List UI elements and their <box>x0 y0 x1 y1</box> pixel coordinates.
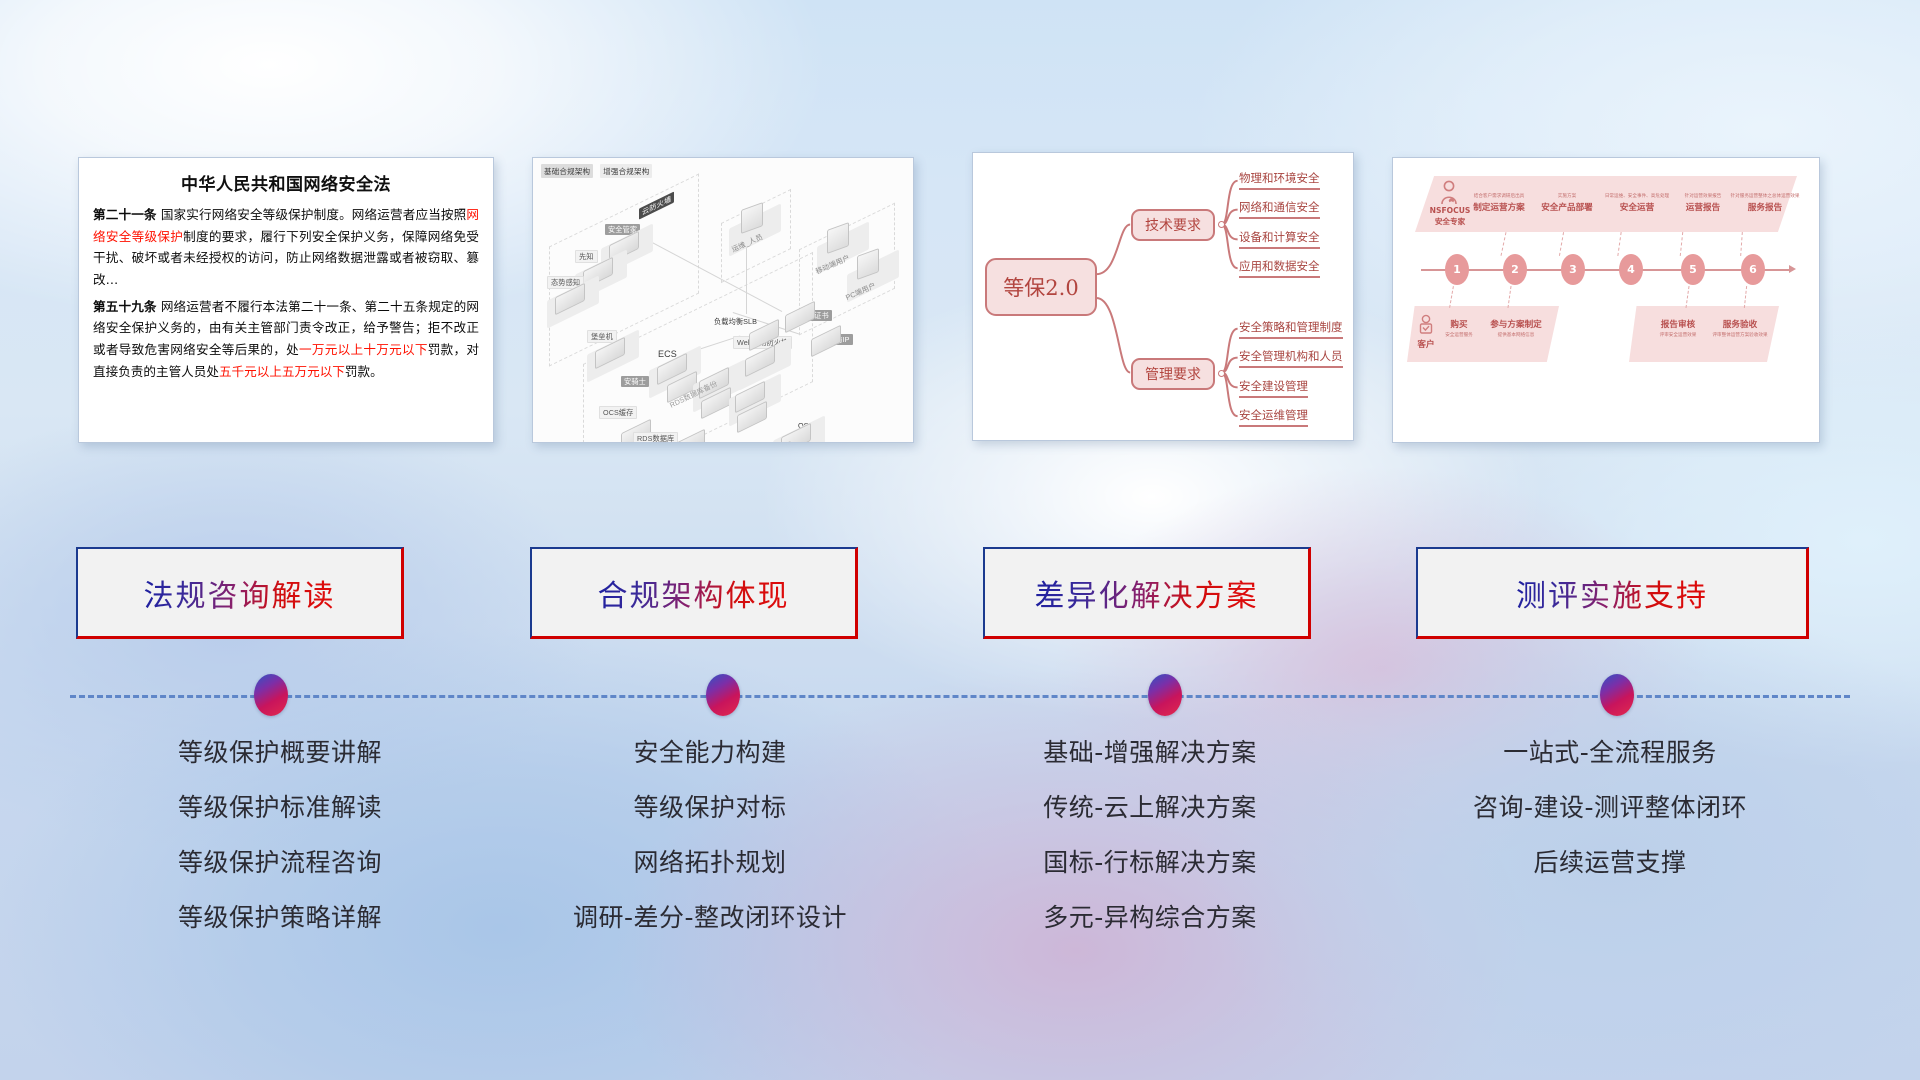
law-body: 中华人民共和国网络安全法 第二十一条 国家实行网络安全等级保护制度。网络运营者应… <box>79 158 493 395</box>
feature-list-assessment: 一站式-全流程服务 咨询-建设-测评整体闭环 后续运营支撑 <box>1380 740 1840 905</box>
list-item: 调研-差分-整改闭环设计 <box>500 905 920 930</box>
mindmap-leaf[interactable]: 应用和数据安全 <box>1239 258 1320 278</box>
mindmap-leaf[interactable]: 网络和通信安全 <box>1239 199 1320 219</box>
list-item: 后续运营支撑 <box>1380 850 1840 875</box>
list-item: 网络拓扑规划 <box>500 850 920 875</box>
service-timeline-card[interactable]: NSFOCUS 安全专家 结合客户需求调研后出具 制定运营方案 实施方案 安全产… <box>1392 157 1820 443</box>
feature-list-solution: 基础-增强解决方案 传统-云上解决方案 国标-行标解决方案 多元-异构综合方案 <box>930 740 1370 960</box>
list-item: 等级保护概要讲解 <box>60 740 500 765</box>
mindmap-leaf[interactable]: 安全运维管理 <box>1239 407 1308 427</box>
step-title: 参与方案制定 <box>1481 318 1551 330</box>
headline-box-differentiated-solution[interactable]: 差异化解决方案 <box>983 547 1311 639</box>
law-text-card[interactable]: 中华人民共和国网络安全法 第二十一条 国家实行网络安全等级保护制度。网络运营者应… <box>78 157 494 443</box>
step-title: 服务报告 <box>1723 201 1807 213</box>
architecture-tabs[interactable]: 基础合规架构 增强合规架构 <box>541 164 652 178</box>
list-item: 安全能力构建 <box>500 740 920 765</box>
step-subtitle: 评审整体运营方案验收效果 <box>1705 332 1775 338</box>
timeline-node[interactable]: 6 <box>1741 254 1765 285</box>
headline-box-assessment-support[interactable]: 测评实施支持 <box>1416 547 1809 639</box>
law-article-59: 第五十九条 网络运营者不履行本法第二十一条、第二十五条规定的网络安全保护义务的，… <box>93 296 479 383</box>
timeline-link <box>1449 286 1454 308</box>
list-item: 等级保护标准解读 <box>60 795 500 820</box>
timeline-node[interactable]: 2 <box>1503 254 1527 285</box>
article-59-highlight-1: 一万元以上十万元以下 <box>299 342 428 357</box>
timeline-dot-2[interactable] <box>706 674 740 716</box>
mindmap-leaf[interactable]: 物理和环境安全 <box>1239 170 1320 190</box>
timeline-bottom-step[interactable]: 购买 安全运营服务 <box>1437 318 1481 338</box>
list-item: 等级保护对标 <box>500 795 920 820</box>
timeline-dot-3[interactable] <box>1148 674 1182 716</box>
headline-box-regulation-consulting[interactable]: 法规咨询解读 <box>76 547 404 639</box>
timeline-dot-4[interactable] <box>1600 674 1634 716</box>
timeline-axis <box>1421 269 1791 271</box>
timeline-link <box>1740 232 1743 256</box>
timeline-link <box>1680 232 1684 256</box>
timeline-bottom-step[interactable]: 参与方案制定 提供基本网络信息 <box>1481 318 1551 338</box>
feature-list-architecture: 安全能力构建 等级保护对标 网络拓扑规划 调研-差分-整改闭环设计 <box>500 740 920 960</box>
mindmap-branch-management[interactable]: 管理要求 <box>1131 358 1215 390</box>
headline-label: 测评实施支持 <box>1516 571 1708 615</box>
article-59-highlight-2: 五千元以上五万元以下 <box>219 364 345 379</box>
customer-label: 客户 <box>1415 338 1437 350</box>
label-rds: RDS数据库 <box>633 432 678 443</box>
list-item: 多元-异构综合方案 <box>930 905 1370 930</box>
mindmap-card[interactable]: 等保2.0 技术要求 物理和环境安全 网络和通信安全 设备和计算安全 应用和数据… <box>972 152 1354 441</box>
step-subtitle: 针对服务运营整体之总体运营效果 <box>1723 193 1807 199</box>
customer-person-icon <box>1417 314 1435 336</box>
list-item: 基础-增强解决方案 <box>930 740 1370 765</box>
step-subtitle: 评审安全运营效果 <box>1645 332 1711 338</box>
mindmap-leaf[interactable]: 安全建设管理 <box>1239 378 1308 398</box>
feature-list-regulation: 等级保护概要讲解 等级保护标准解读 等级保护流程咨询 等级保护策略详解 <box>60 740 500 960</box>
law-title: 中华人民共和国网络安全法 <box>93 170 479 195</box>
list-item: 一站式-全流程服务 <box>1380 740 1840 765</box>
dashed-divider <box>70 695 1850 698</box>
step-title: 服务验收 <box>1705 318 1775 330</box>
timeline-link <box>1744 286 1747 308</box>
mindmap-leaf[interactable]: 安全策略和管理制度 <box>1239 319 1343 339</box>
timeline-top-step[interactable]: 针对服务运营整体之总体运营效果 服务报告 <box>1723 193 1807 213</box>
step-title: 报告审核 <box>1645 318 1711 330</box>
label-anqishi: 安骑士 <box>621 376 649 387</box>
mindmap-root[interactable]: 等保2.0 <box>985 258 1097 316</box>
timeline-node[interactable]: 1 <box>1445 254 1469 285</box>
cloud-architecture-card[interactable]: 基础合规架构 增强合规架构 云防火墙 安全管家 <box>532 157 914 443</box>
headline-label: 法规咨询解读 <box>144 571 336 615</box>
list-item: 国标-行标解决方案 <box>930 850 1370 875</box>
architecture-diagram: 基础合规架构 增强合规架构 云防火墙 安全管家 <box>533 158 913 442</box>
timeline-bottom-step[interactable]: 报告审核 评审安全运营效果 <box>1645 318 1711 338</box>
timeline-link <box>1685 286 1689 308</box>
article-21-text-a: 国家实行网络安全等级保护制度。网络运营者应当按照 <box>157 207 467 222</box>
step-subtitle: 提供基本网络信息 <box>1481 332 1551 338</box>
tab-enhanced-compliance[interactable]: 增强合规架构 <box>600 164 652 178</box>
tab-basic-compliance[interactable]: 基础合规架构 <box>541 164 593 178</box>
timeline-diagram: NSFOCUS 安全专家 结合客户需求调研后出具 制定运营方案 实施方案 安全产… <box>1393 158 1819 442</box>
timeline-dot-1[interactable] <box>254 674 288 716</box>
timeline-arrow-icon <box>1789 265 1796 273</box>
list-item: 等级保护流程咨询 <box>60 850 500 875</box>
node-anti-ddos <box>811 325 841 358</box>
article-21-label: 第二十一条 <box>93 207 157 222</box>
timeline-node[interactable]: 5 <box>1681 254 1705 285</box>
timeline-link <box>1617 232 1621 256</box>
timeline-link <box>1501 232 1507 256</box>
headline-label: 合规架构体现 <box>598 571 790 615</box>
law-article-21: 第二十一条 国家实行网络安全等级保护制度。网络运营者应当按照网络安全等级保护制度… <box>93 204 479 291</box>
label-ocs-cache: OCS缓存 <box>599 406 637 419</box>
timeline-link <box>1507 286 1511 308</box>
label-awareness: 先知 <box>575 250 598 263</box>
collapse-icon[interactable] <box>1218 221 1225 228</box>
list-item: 咨询-建设-测评整体闭环 <box>1380 795 1840 820</box>
timeline-bottom-step[interactable]: 服务验收 评审整体运营方案验收效果 <box>1705 318 1775 338</box>
mindmap-branch-technical[interactable]: 技术要求 <box>1131 209 1215 241</box>
mindmap-diagram: 等保2.0 技术要求 物理和环境安全 网络和通信安全 设备和计算安全 应用和数据… <box>973 153 1353 440</box>
label-slb: 负载均衡SLB <box>711 316 760 327</box>
article-59-text-c: 罚款。 <box>345 364 383 379</box>
headline-box-compliance-architecture[interactable]: 合规架构体现 <box>530 547 858 639</box>
expert-person-icon <box>1437 180 1461 206</box>
timeline-node[interactable]: 4 <box>1619 254 1643 285</box>
list-item: 等级保护策略详解 <box>60 905 500 930</box>
timeline-link <box>1559 232 1564 256</box>
collapse-icon[interactable] <box>1218 370 1225 377</box>
mindmap-leaf[interactable]: 设备和计算安全 <box>1239 229 1320 249</box>
expert-role-label: 安全专家 <box>1421 216 1479 227</box>
step-title: 购买 <box>1437 318 1481 330</box>
mindmap-leaf[interactable]: 安全管理机构和人员 <box>1239 348 1343 368</box>
article-59-label: 第五十九条 <box>93 299 157 314</box>
headline-label: 差异化解决方案 <box>1035 571 1259 615</box>
step-subtitle: 安全运营服务 <box>1437 332 1481 338</box>
list-item: 传统-云上解决方案 <box>930 795 1370 820</box>
timeline-node[interactable]: 3 <box>1561 254 1585 285</box>
